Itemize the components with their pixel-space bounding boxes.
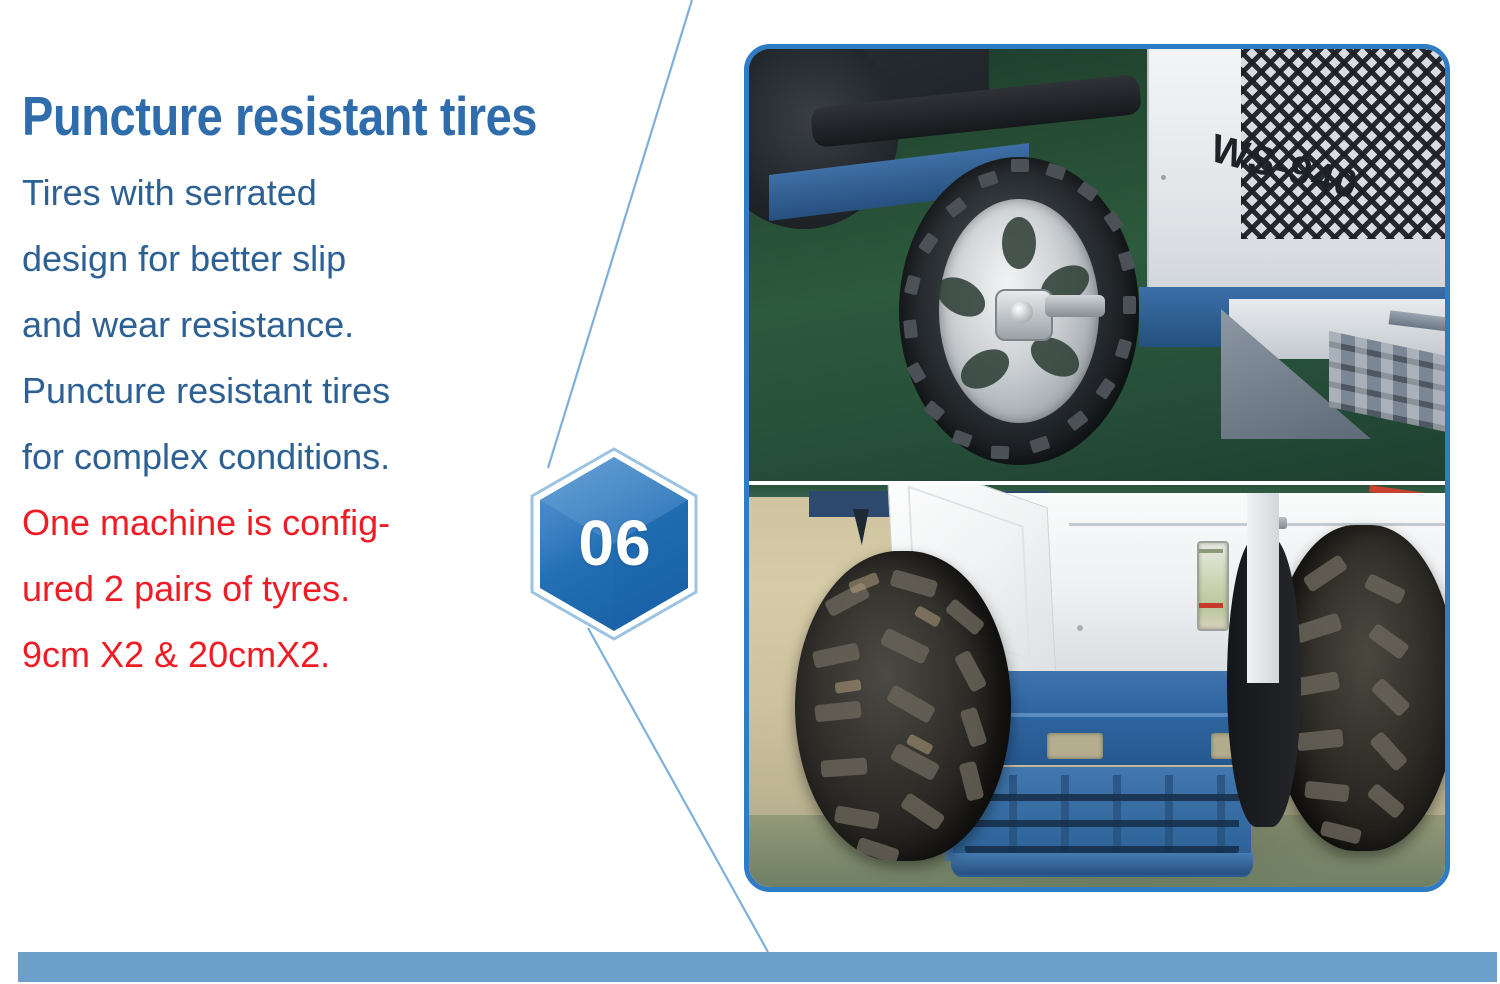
machine-rivet — [1077, 625, 1083, 631]
step-number-badge: 06 — [528, 446, 700, 642]
description-line: Puncture resistant tires — [22, 358, 582, 424]
machine-rivet — [1161, 175, 1166, 180]
highlight-paragraph: One machine is config- ured 2 pairs of t… — [22, 490, 582, 688]
gauge-marker — [1199, 549, 1223, 553]
bumper-slot — [1047, 733, 1103, 759]
highlight-line: ured 2 pairs of tyres. — [22, 556, 582, 622]
highlight-line: 9cm X2 & 20cmX2. — [22, 622, 582, 688]
text-column: Puncture resistant tires Tires with serr… — [22, 86, 582, 688]
sight-glass-gauge — [1197, 541, 1229, 631]
description-line: Tires with serrated — [22, 160, 582, 226]
gauge-marker — [1199, 603, 1223, 608]
machine-fender-edge — [1247, 493, 1279, 683]
photo-bottom-atv-tires — [749, 485, 1445, 887]
photo-top-serrated-tire: WS-940 — [749, 49, 1445, 481]
connector-line-bottom — [588, 628, 768, 952]
page-title: Puncture resistant tires — [22, 86, 501, 146]
photo-frame: WS-940 — [744, 44, 1450, 892]
axle-bolt — [1011, 301, 1033, 323]
description-line: and wear resistance. — [22, 292, 582, 358]
axle-shaft — [1045, 295, 1105, 317]
footer-bar — [18, 952, 1497, 982]
description-line: design for better slip — [22, 226, 582, 292]
slide-canvas: Puncture resistant tires Tires with serr… — [0, 0, 1500, 984]
step-number-label: 06 — [528, 446, 700, 642]
atv-tire-left-tread — [795, 551, 1011, 861]
description-paragraph: Tires with serrated design for better sl… — [22, 160, 582, 490]
machine-body-panel-seam — [1147, 49, 1149, 319]
highlight-line: One machine is config- — [22, 490, 582, 556]
description-line: for complex conditions. — [22, 424, 582, 490]
